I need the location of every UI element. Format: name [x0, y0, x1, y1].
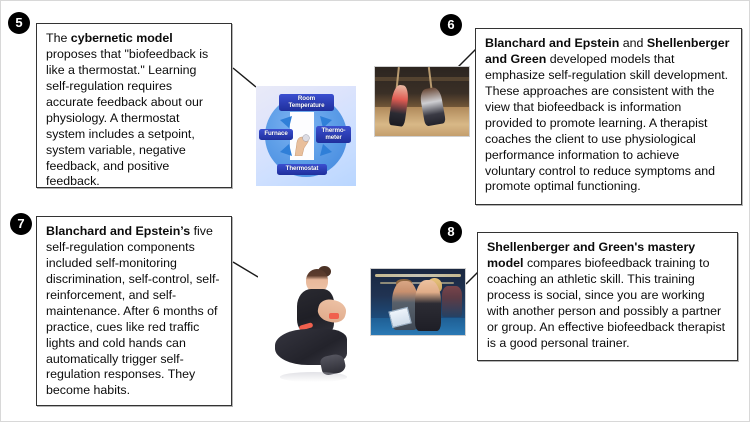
callout-text-run: proposes that "biofeedback is like a the…: [46, 47, 208, 189]
callout-text-run: and: [619, 36, 647, 50]
callout-text-run: developed models that emphasize self-reg…: [485, 52, 728, 194]
connector-line-5: [233, 68, 256, 87]
panel-number-badge-5: 5: [8, 12, 30, 34]
callout-text-6: Blanchard and Epstein and Shellenberger …: [475, 28, 742, 205]
trx-suspension-training-photo: [374, 66, 470, 137]
connector-line-7: [233, 262, 258, 277]
callout-text-run: cybernetic model: [71, 31, 173, 45]
callout-text-run: five self-regulation components included…: [46, 224, 220, 397]
panel-number-badge-7: 7: [10, 213, 32, 235]
callout-text-7: Blanchard and Epstein’s five self-regula…: [36, 216, 232, 406]
thermostat-label-furnace: Furnace: [259, 129, 293, 140]
callout-text-8: Shellenberger and Green's mastery model …: [477, 232, 738, 361]
callout-text-run: The: [46, 31, 71, 45]
callout-text-run: Blanchard and Epstein’s: [46, 224, 190, 238]
thermostat-label-room-temperature: RoomTemperature: [279, 94, 334, 111]
thermostat-label-thermostat: Thermostat: [277, 164, 327, 175]
callout-text-5: The cybernetic model proposes that "biof…: [36, 23, 232, 188]
callout-text-run: Blanchard and Epstein: [485, 36, 619, 50]
hand-adjusting-thermostat-icon: [291, 126, 313, 156]
seated-woman-fitness-tracker-photo: [258, 264, 366, 384]
thermostat-cycle-diagram: RoomTemperature Furnace Thermo-meter The…: [256, 86, 356, 186]
trainer-with-client-photo: [370, 268, 466, 336]
thermostat-label-thermometer: Thermo-meter: [316, 126, 351, 143]
panel-number-badge-8: 8: [440, 221, 462, 243]
panel-number-badge-6: 6: [440, 14, 462, 36]
